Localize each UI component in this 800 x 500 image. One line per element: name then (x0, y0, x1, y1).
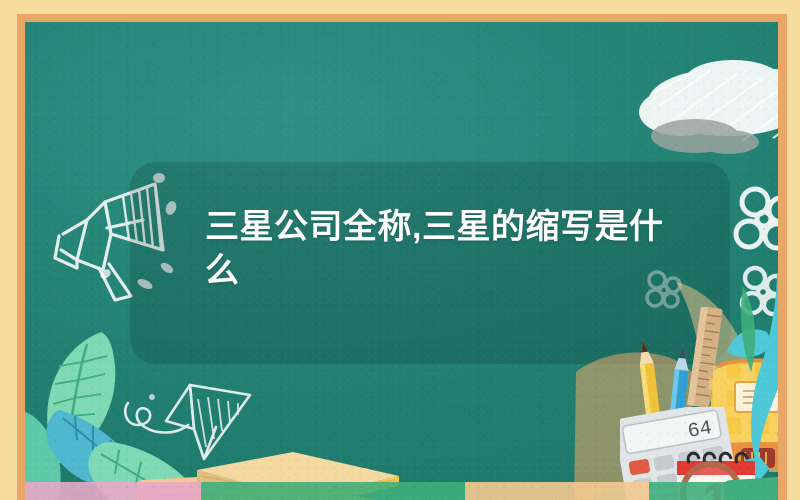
bottom-color-band (25, 482, 778, 500)
flower-doodle (725, 182, 778, 262)
flower-doodle (733, 262, 778, 324)
paper-airplane-doodle (120, 377, 255, 467)
chalk-smudge (633, 50, 778, 165)
banner-image: 三星公司全称,三星的缩写是什么 (0, 0, 800, 500)
page-title: 三星公司全称,三星的缩写是什么 (205, 205, 675, 293)
calculator-display: 64 (686, 417, 714, 444)
leaf-illustration (725, 272, 778, 500)
chalkboard-surface: 三星公司全称,三星的缩写是什么 (25, 22, 778, 500)
backpack-illustration (697, 352, 778, 482)
globe-illustration (777, 322, 778, 417)
chalk-dot (99, 268, 112, 280)
